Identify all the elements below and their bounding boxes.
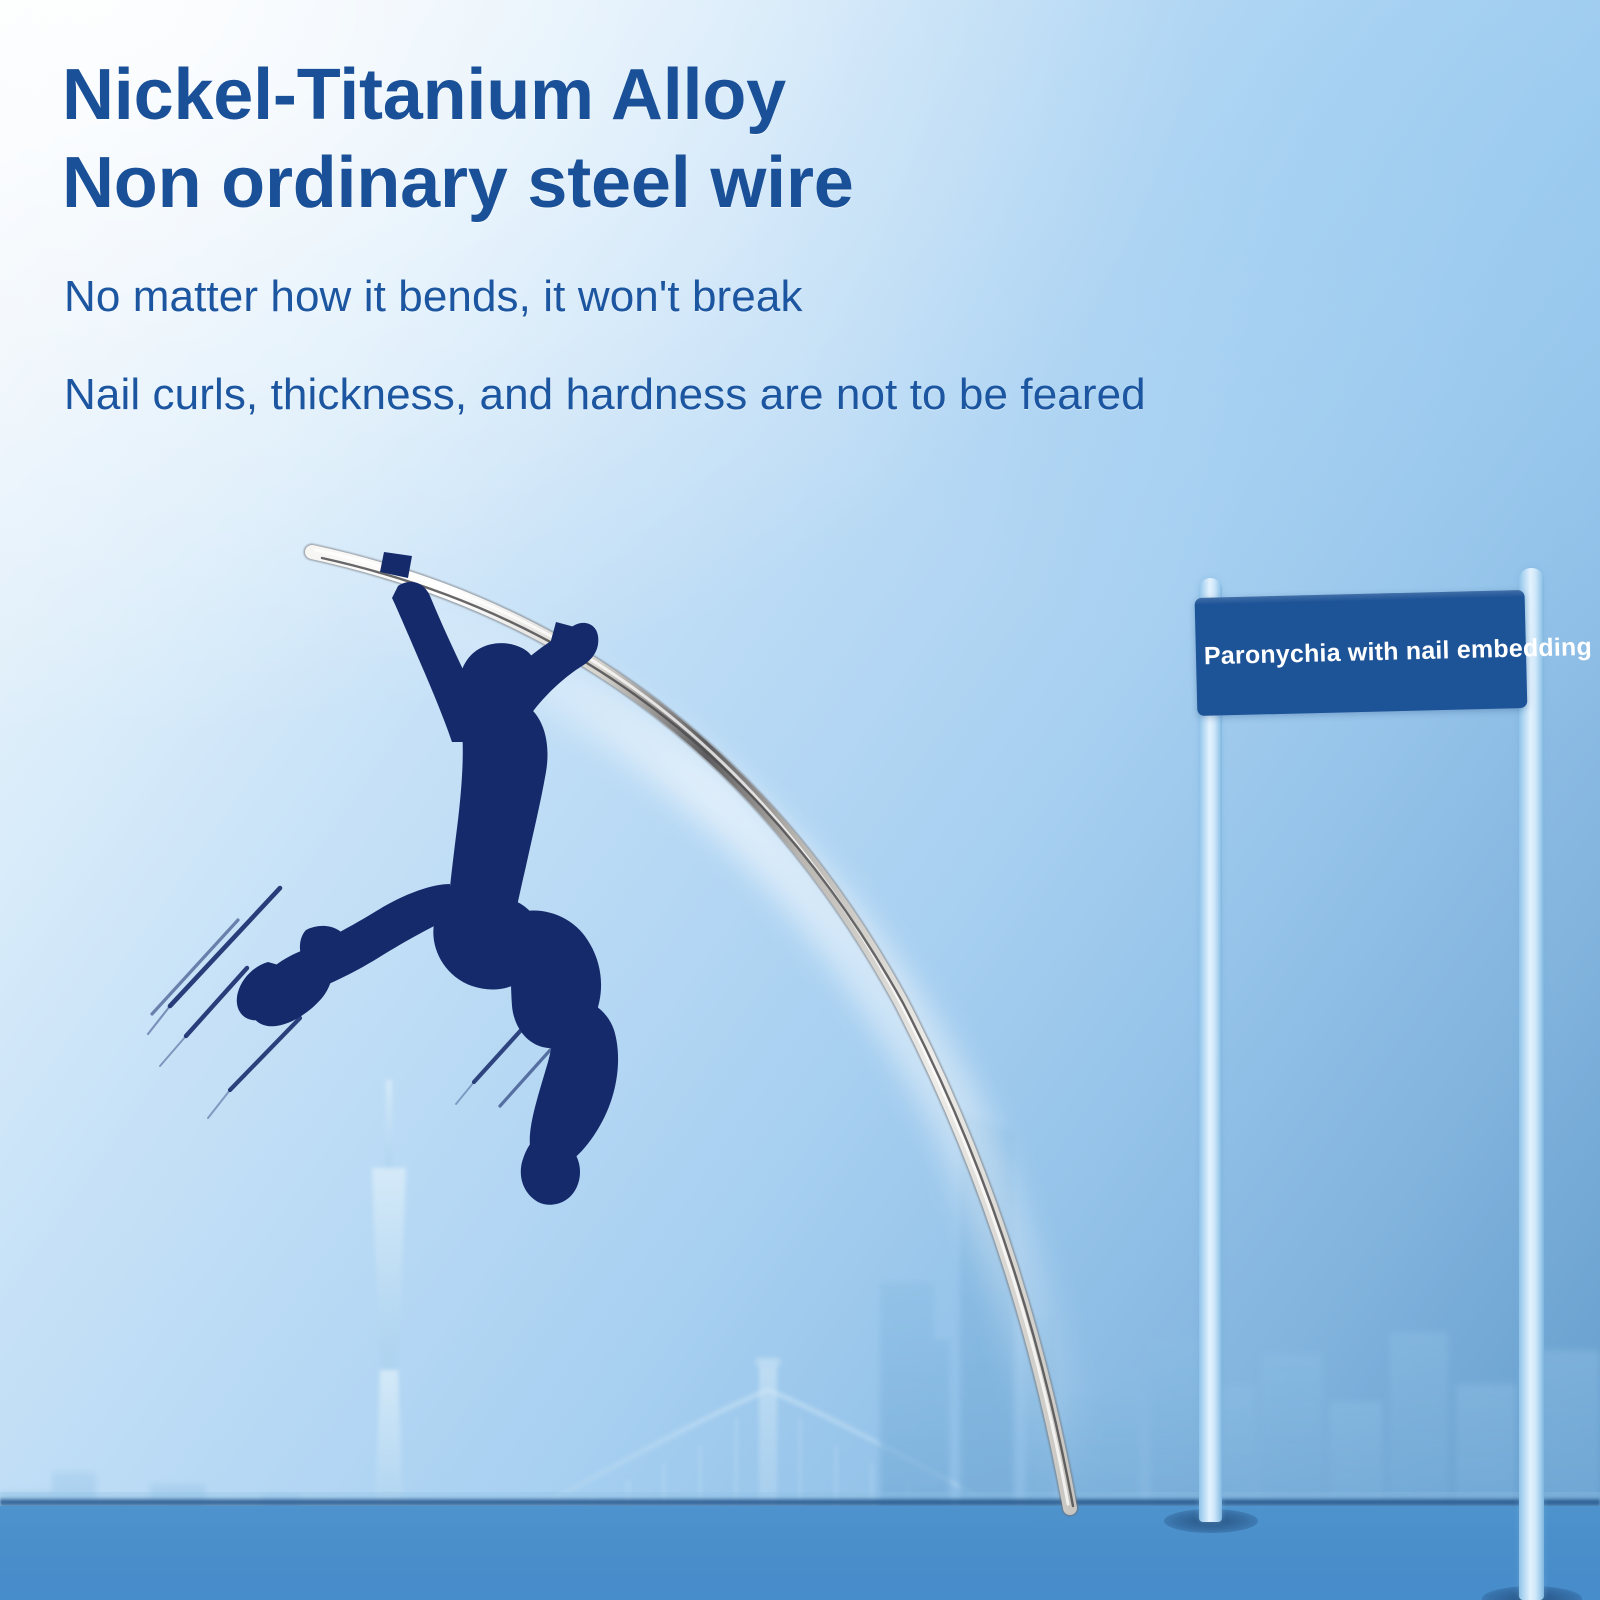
subtitle-line-2: Nail curls, thickness, and hardness are … (64, 370, 1146, 420)
right-upright-post (1519, 568, 1544, 1600)
subtitle-line-1: No matter how it bends, it won't break (64, 272, 803, 322)
left-upright-post (1199, 578, 1222, 1522)
bending-metal-pole (312, 550, 1073, 1508)
promotional-poster: Paronychia with nail embedding Nickel-Ti… (0, 0, 1600, 1600)
crossbar-banner: Paronychia with nail embedding (1195, 590, 1528, 716)
pole-vault-scene (0, 0, 1600, 1600)
pole-vaulter-silhouette (237, 582, 618, 1205)
page-title: Nickel-Titanium Alloy Non ordinary steel… (62, 52, 1262, 228)
crossbar-banner-label: Paronychia with nail embedding (1196, 634, 1527, 671)
